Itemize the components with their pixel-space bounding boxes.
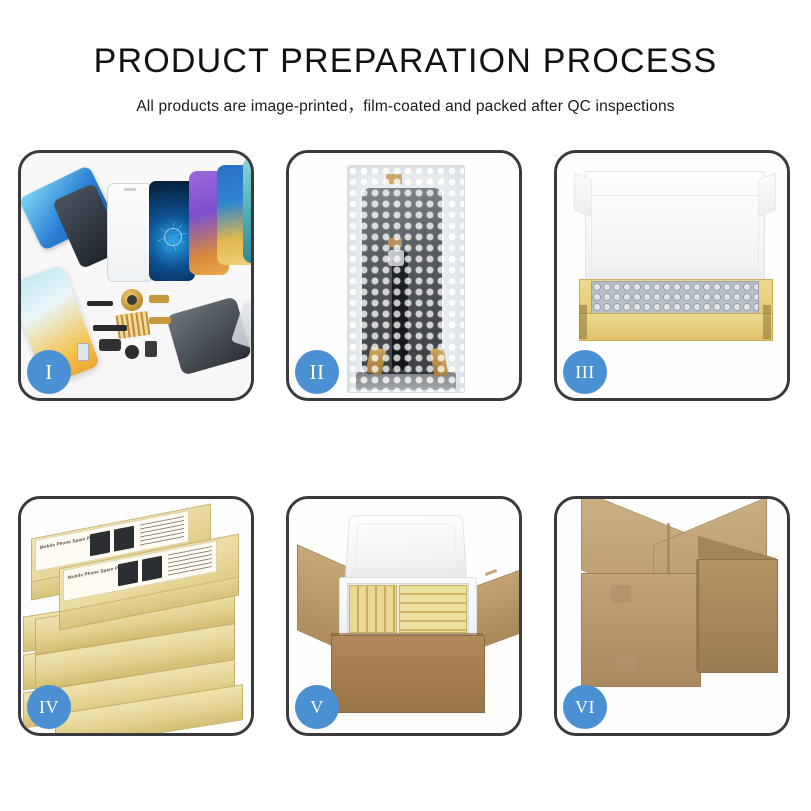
step-5-image: V: [289, 499, 519, 733]
box-tray-front-icon: [579, 313, 773, 341]
glass-panel-icon: [107, 183, 153, 282]
coil-part-icon: [121, 289, 143, 311]
label-screen-thumb: [114, 526, 134, 552]
process-step-6: VI: [554, 496, 790, 736]
camera-module-icon: [99, 339, 121, 351]
label-screen-thumb: [90, 530, 110, 556]
gold-flex-icon: [149, 317, 171, 324]
box-edge-right: [763, 305, 771, 339]
page-subtitle: All products are image-printed，film-coat…: [0, 94, 811, 116]
teal-phone-icon: [243, 157, 251, 263]
label-spec-lines: [168, 546, 212, 577]
yellow-box-stack-horizontal: [399, 585, 467, 633]
process-step-2: II: [286, 150, 522, 401]
speaker-icon: [125, 345, 139, 359]
tape-top-icon: [386, 174, 402, 184]
page-title: PRODUCT PREPARATION PROCESS: [0, 44, 811, 80]
flex-cable-icon: [87, 301, 113, 306]
process-step-5: V: [286, 496, 522, 736]
tape-mid-icon: [388, 238, 402, 247]
battery-part-icon: [145, 341, 157, 357]
label-spec-lines: [140, 516, 184, 547]
gold-connector-icon: [149, 295, 169, 303]
step-4-image: Mobile Phone Spare Parts Mobile Phone Sp…: [21, 499, 251, 733]
process-step-3: III: [554, 150, 790, 401]
step-6-image: VI: [557, 499, 787, 733]
step-badge-2: II: [295, 350, 339, 394]
process-step-4: Mobile Phone Spare Parts Mobile Phone Sp…: [18, 496, 254, 736]
carton-tape-icon: [485, 569, 497, 576]
label-screen-thumb: [142, 556, 162, 582]
bubble-wrap-icon: [347, 165, 465, 393]
process-step-1: I: [18, 150, 254, 401]
carton-side-face: [698, 559, 778, 673]
step-3-image: III: [557, 153, 787, 398]
label-screen-thumb: [118, 560, 138, 586]
carton-front-face: [581, 573, 701, 687]
product-preparation-page: PRODUCT PREPARATION PROCESS All products…: [0, 0, 811, 811]
step-badge-1: I: [27, 350, 71, 394]
carton-tape-upper: [611, 585, 631, 603]
step-badge-4: IV: [27, 685, 71, 729]
carton-vertical-edge: [696, 559, 699, 671]
sim-tray-icon: [77, 343, 89, 361]
foam-lid-icon: [345, 515, 468, 581]
step-badge-5: V: [295, 685, 339, 729]
step-badge-6: VI: [563, 685, 607, 729]
box-edge-left: [579, 305, 587, 339]
carton-body-icon: [331, 635, 485, 713]
box-lid-face-icon: [591, 195, 759, 271]
yellow-box-stack-vertical: [349, 585, 397, 633]
connector-icon: [388, 250, 404, 266]
step-2-image: II: [289, 153, 519, 398]
page-header: PRODUCT PREPARATION PROCESS All products…: [0, 0, 811, 116]
step-1-image: I: [21, 153, 251, 398]
process-step-grid: I II: [18, 150, 793, 736]
step-badge-3: III: [563, 350, 607, 394]
carton-tape-lower: [615, 655, 635, 671]
ribbon-cable-icon: [93, 325, 127, 331]
flex-strip-icon: [392, 252, 408, 370]
